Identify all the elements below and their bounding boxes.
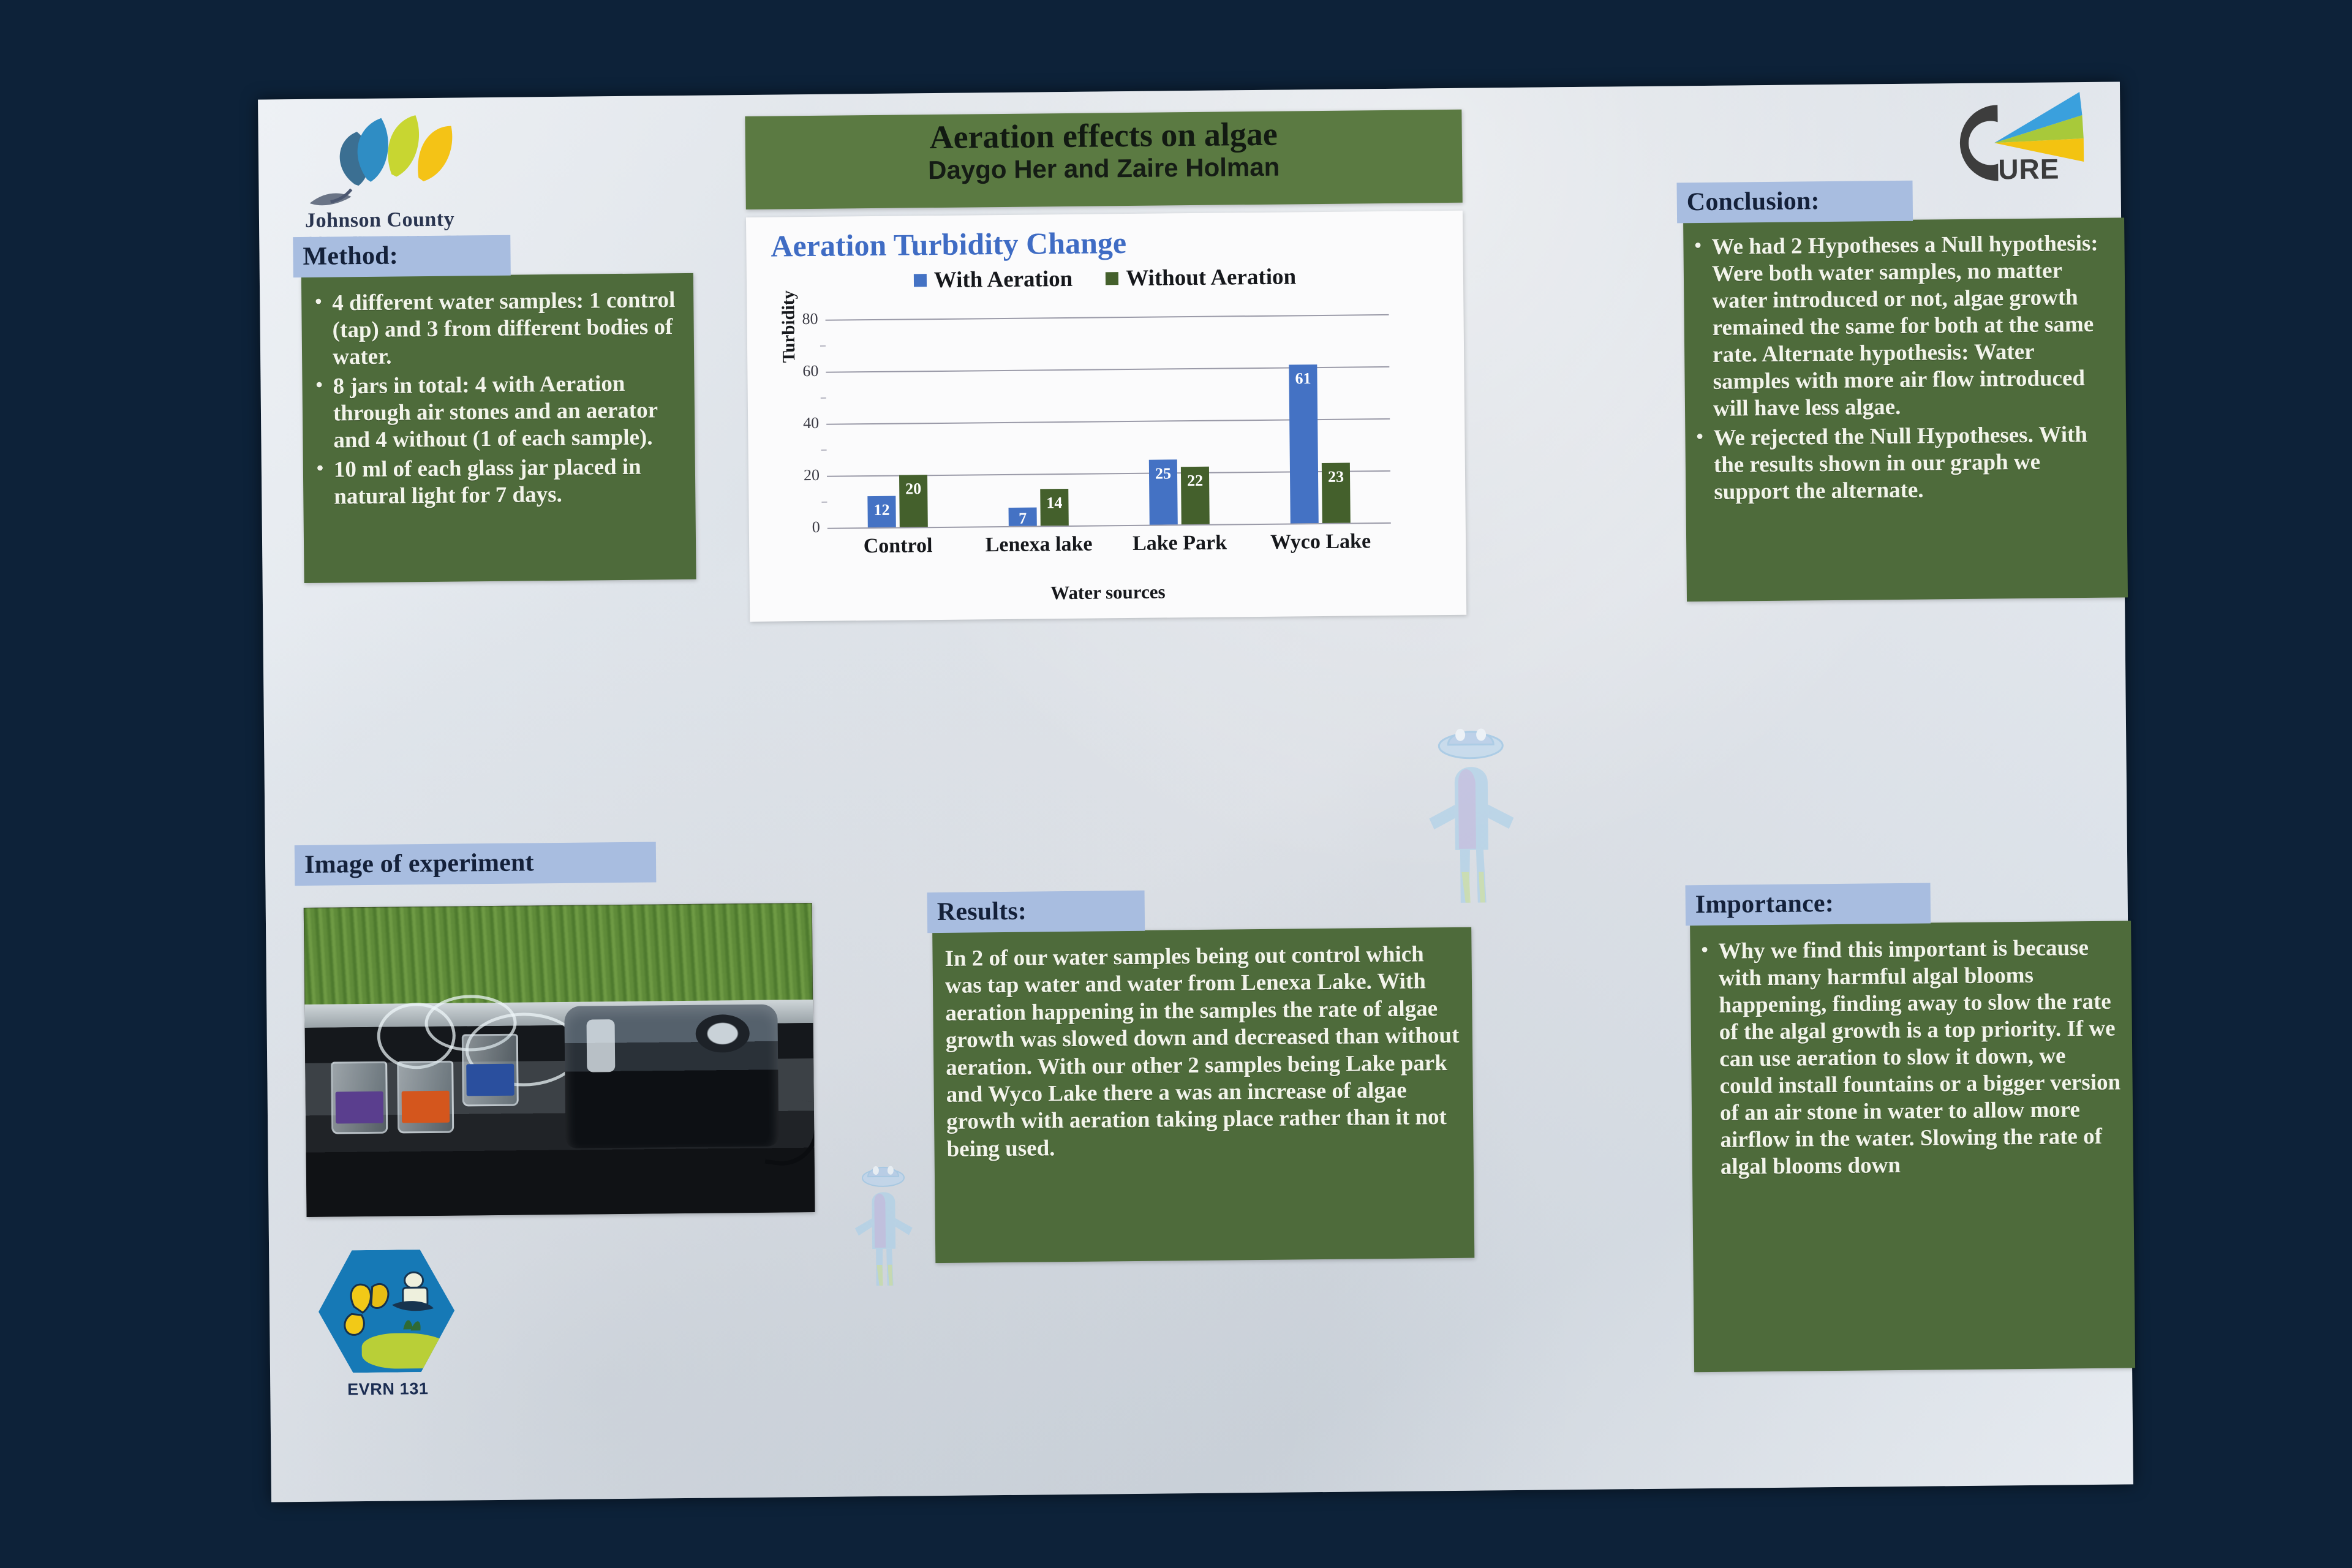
x-tick-label: Lenexa lake <box>968 532 1109 557</box>
chart-legend: With Aeration Without Aeration <box>747 262 1463 295</box>
bar-control-without-aeration: 20 <box>899 475 928 527</box>
frog-sticker-icon <box>847 1159 921 1289</box>
jar-label <box>466 1064 514 1096</box>
cure-mark-icon <box>1925 88 2110 206</box>
x-tick-label: Lake Park <box>1109 531 1250 556</box>
legend-label: Without Aeration <box>1126 263 1296 292</box>
bar-lakepark-without-aeration: 22 <box>1181 467 1210 524</box>
list-item: We rejected the Null Hypotheses. With th… <box>1692 421 2117 507</box>
turbidity-chart-card: Aeration Turbidity Change With Aeration … <box>746 211 1466 622</box>
legend-swatch-icon <box>1106 272 1118 285</box>
bar-value-label: 25 <box>1149 464 1177 483</box>
pump-dial-icon <box>695 1014 750 1053</box>
conclusion-box: We had 2 Hypotheses a Null hypothesis: W… <box>1683 217 2128 601</box>
evrn-course-label: EVRN 131 <box>308 1379 467 1399</box>
section-header-conclusion: Conclusion: <box>1676 181 1913 224</box>
legend-swatch-icon <box>914 274 927 287</box>
sample-jar <box>462 1034 519 1107</box>
bar-value-label: 61 <box>1289 369 1317 388</box>
minor-tick <box>821 502 827 503</box>
bar-value-label: 7 <box>1009 509 1037 527</box>
x-tick-label: Control <box>827 534 968 559</box>
experiment-photo <box>304 903 815 1217</box>
bar-value-label: 12 <box>867 501 895 519</box>
y-tick-label: 20 <box>788 466 820 484</box>
jar-label <box>402 1091 450 1123</box>
bar-value-label: 22 <box>1181 472 1209 490</box>
jccc-name-line1: Johnson County <box>305 208 455 232</box>
bar-value-label: 20 <box>899 480 927 498</box>
sample-jar <box>331 1061 388 1134</box>
section-header-importance: Importance: <box>1685 883 1931 925</box>
legend-label: With Aeration <box>934 266 1073 293</box>
jccc-leaves-icon <box>298 109 556 216</box>
bar-lenexa-with-aeration: 7 <box>1009 507 1037 526</box>
section-header-results: Results: <box>927 891 1145 933</box>
cure-wordmark: URE <box>1998 152 2060 186</box>
results-box: In 2 of our water samples being out cont… <box>932 927 1474 1263</box>
list-item: We had 2 Hypotheses a Null hypothesis: W… <box>1691 230 2116 423</box>
bar-value-label: 14 <box>1040 494 1068 512</box>
conclusion-list: We had 2 Hypotheses a Null hypothesis: W… <box>1691 230 2117 507</box>
minor-tick <box>820 345 826 347</box>
method-box: 4 different water samples: 1 control (ta… <box>301 273 696 583</box>
chart-title: Aeration Turbidity Change <box>771 225 1126 264</box>
sample-jar <box>397 1061 454 1134</box>
bar-value-label: 23 <box>1322 468 1350 486</box>
y-tick-label: 80 <box>786 310 818 328</box>
section-header-method: Method: <box>293 235 511 277</box>
aerator-pump <box>564 1005 778 1148</box>
bar-group-wyco-lake: 61 23 <box>1248 314 1391 524</box>
bar-wyco-without-aeration: 23 <box>1322 463 1351 523</box>
evrn-logo: EVRN 131 <box>307 1249 468 1415</box>
results-body: In 2 of our water samples being out cont… <box>944 941 1461 1163</box>
butterfly-and-bird-icon <box>318 1249 455 1373</box>
frog-sticker-icon <box>1419 718 1525 910</box>
bar-group-control: 12 20 <box>826 318 968 528</box>
method-list: 4 different water samples: 1 control (ta… <box>311 287 683 511</box>
y-tick-label: 0 <box>788 518 820 537</box>
poster-board: Johnson County COMMUNITY COLLEGE URE Aer… <box>258 81 2133 1502</box>
x-tick-label: Wyco Lake <box>1250 530 1391 554</box>
poster-title-banner: Aeration effects on algae Daygo Her and … <box>745 110 1462 209</box>
legend-item-with-aeration: With Aeration <box>914 266 1073 293</box>
bar-group-lenexa-lake: 7 14 <box>967 317 1109 526</box>
bar-group-lake-park: 25 22 <box>1107 315 1250 525</box>
importance-list: Why we find this important is because wi… <box>1697 935 2124 1182</box>
bar-lenexa-without-aeration: 14 <box>1040 489 1069 526</box>
cure-logo: URE <box>1925 88 2110 206</box>
importance-box: Why we find this important is because wi… <box>1690 921 2135 1372</box>
chart-category-labels: Control Lenexa lake Lake Park Wyco Lake <box>827 530 1391 559</box>
bar-wyco-with-aeration: 61 <box>1289 364 1318 523</box>
bar-control-with-aeration: 12 <box>867 496 895 527</box>
section-header-image-of-experiment: Image of experiment <box>295 842 657 886</box>
list-item: 4 different water samples: 1 control (ta… <box>311 287 682 371</box>
y-tick-label: 40 <box>787 414 819 432</box>
jar-label <box>336 1091 383 1124</box>
bar-lakepark-with-aeration: 25 <box>1149 459 1178 524</box>
page-title: Aeration effects on algae <box>745 115 1462 157</box>
hexagon-badge-icon <box>318 1249 455 1373</box>
chart-plot-area: 80 60 40 20 0 12 20 7 14 25 <box>826 314 1391 528</box>
minor-tick <box>821 450 827 451</box>
chart-x-axis-title: Water sources <box>750 578 1466 607</box>
poster-authors: Daygo Her and Zaire Holman <box>745 151 1462 186</box>
pump-highlight <box>587 1019 616 1072</box>
y-tick-label: 60 <box>786 362 818 380</box>
list-item: 10 ml of each glass jar placed in natura… <box>313 453 684 511</box>
list-item: 8 jars in total: 4 with Aeration through… <box>312 370 682 454</box>
legend-item-without-aeration: Without Aeration <box>1106 263 1296 292</box>
grass-background <box>304 903 813 1009</box>
list-item: Why we find this important is because wi… <box>1697 935 2124 1182</box>
minor-tick <box>821 398 826 399</box>
